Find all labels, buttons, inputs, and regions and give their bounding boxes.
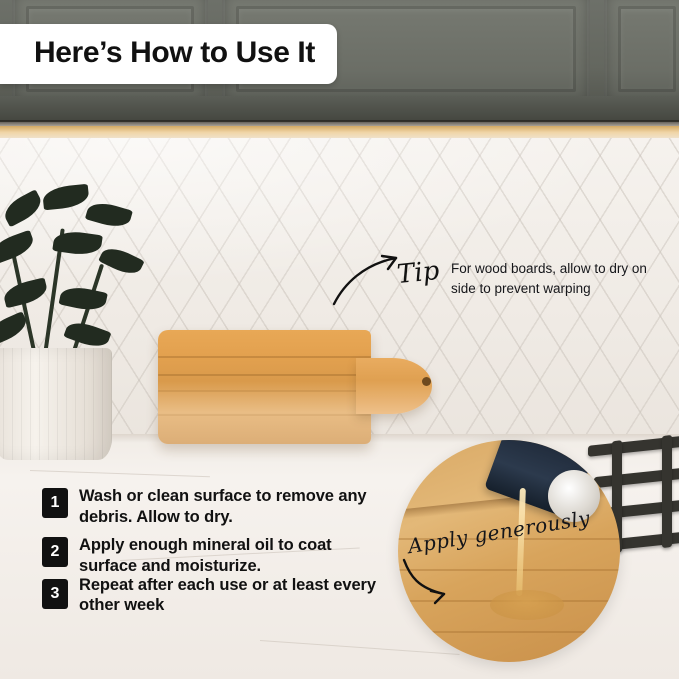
cabinet-bottom-rail [0,96,679,122]
step-number-badge: 1 [42,488,68,518]
board-grain-line [158,356,371,358]
tip-label: Tip [396,256,441,290]
grate-bar [662,435,672,548]
steps-list: 1 Wash or clean surface to remove any de… [42,486,392,624]
cutting-board-handle [356,358,432,414]
cutting-board [158,330,448,450]
step-number-badge: 2 [42,537,68,567]
step-text: Wash or clean surface to remove any debr… [79,486,379,527]
list-item: 2 Apply enough mineral oil to coat surfa… [42,535,392,576]
kitchen-infographic: Here’s How to Use It Tip For wood boards… [0,0,679,679]
oil-pool [490,590,564,620]
step-text: Repeat after each use or at least every … [79,575,379,616]
cabinet-door-inner-panel [618,6,676,92]
inset-wood-grain [398,631,620,633]
tip-arrow-icon [330,248,406,308]
tip-text: For wood boards, allow to dry on side to… [451,259,666,298]
apply-arrow-icon [400,556,456,608]
board-grain-line [158,390,371,392]
cutting-board-body [158,330,371,444]
page-title-tab: Here’s How to Use It [0,24,337,84]
page-title: Here’s How to Use It [34,36,315,70]
board-grain-line [158,414,371,416]
cutting-board-hang-hole [422,377,431,386]
plant-pot [0,348,112,460]
step-text: Apply enough mineral oil to coat surface… [79,535,379,576]
cabinet-door-right [604,0,679,104]
list-item: 3 Repeat after each use or at least ever… [42,575,392,616]
board-grain-line [158,374,371,376]
step-number-badge: 3 [42,579,68,609]
list-item: 1 Wash or clean surface to remove any de… [42,486,392,527]
